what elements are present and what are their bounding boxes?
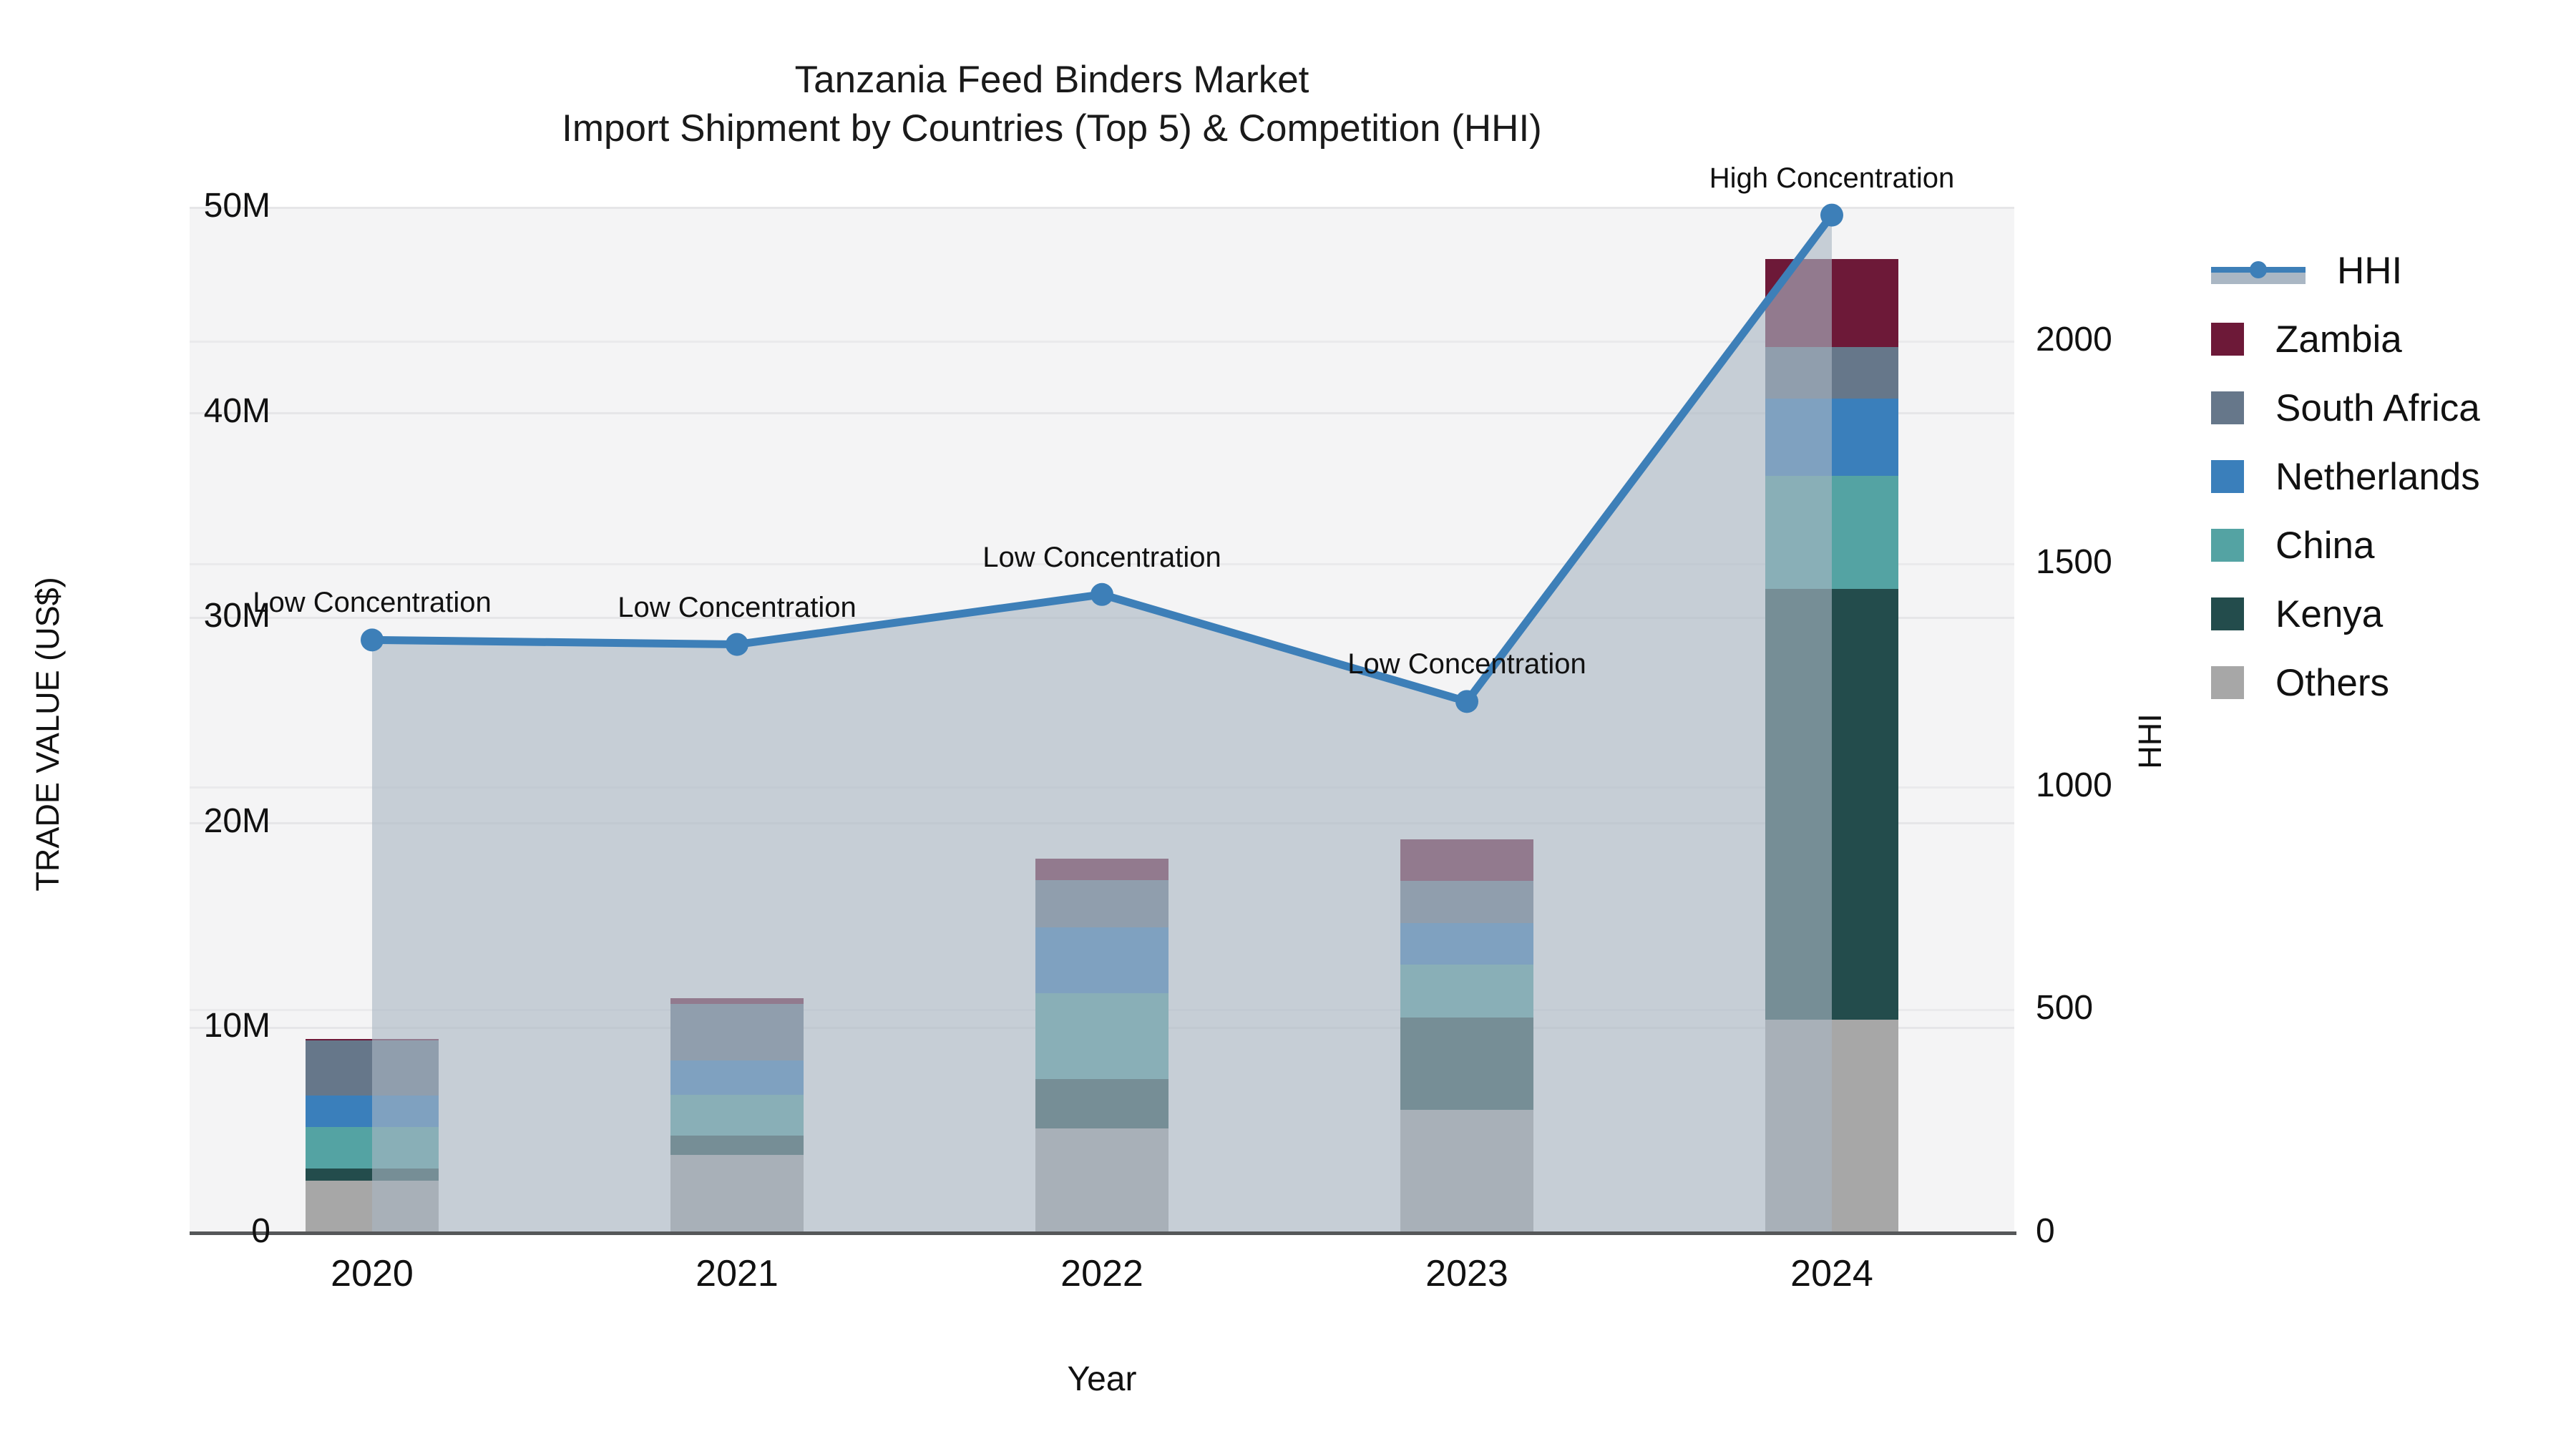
hhi-data-point[interactable] — [1820, 204, 1843, 227]
legend-item-label: China — [2275, 527, 2374, 565]
chart-title-line-1: Tanzania Feed Binders Market — [795, 59, 1309, 101]
hhi-data-point[interactable] — [1091, 583, 1113, 606]
legend-swatch-icon — [2211, 323, 2244, 356]
chart-title-line-2: Import Shipment by Countries (Top 5) & C… — [0, 104, 2104, 153]
legend-item-label: Zambia — [2275, 321, 2402, 358]
concentration-annotation: Low Concentration — [1347, 648, 1586, 680]
hhi-data-point[interactable] — [726, 633, 748, 656]
concentration-annotation: High Concentration — [1709, 162, 1954, 195]
legend-swatch-icon — [2211, 391, 2244, 424]
y-axis-right-tick-label: 500 — [2036, 988, 2322, 1028]
x-axis-tick-label-2022: 2022 — [959, 1252, 1245, 1295]
hhi-data-point[interactable] — [361, 628, 384, 651]
x-axis-tick-label-2021: 2021 — [594, 1252, 880, 1295]
legend-item-hhi[interactable]: HHI — [2211, 236, 2569, 305]
y-axis-left-tick-label: 50M — [0, 186, 270, 225]
hhi-data-point[interactable] — [1455, 690, 1478, 713]
legend-item-china[interactable]: China — [2211, 511, 2569, 580]
plot-area: Low ConcentrationLow ConcentrationLow Co… — [190, 208, 2014, 1233]
y-axis-left-tick-label: 0 — [0, 1211, 270, 1251]
legend-item-label: HHI — [2337, 252, 2402, 290]
y-axis-right-tick-label: 1000 — [2036, 766, 2322, 805]
legend-item-kenya[interactable]: Kenya — [2211, 580, 2569, 648]
legend-item-south-africa[interactable]: South Africa — [2211, 374, 2569, 442]
x-axis-label: Year — [190, 1360, 2014, 1399]
legend-item-zambia[interactable]: Zambia — [2211, 305, 2569, 374]
legend-item-label: Kenya — [2275, 595, 2383, 633]
legend-swatch-icon — [2211, 666, 2244, 699]
legend-item-label: Others — [2275, 664, 2389, 702]
y-axis-right-tick-label: 0 — [2036, 1211, 2322, 1251]
hhi-area-fill — [372, 215, 1832, 1233]
legend-item-others[interactable]: Others — [2211, 648, 2569, 717]
y-axis-left-tick-label: 40M — [0, 391, 270, 431]
chart-title: Tanzania Feed Binders Market Import Ship… — [0, 56, 2104, 153]
legend-item-netherlands[interactable]: Netherlands — [2211, 442, 2569, 511]
legend-swatch-icon — [2211, 529, 2244, 562]
legend-line-marker-icon — [2211, 254, 2306, 287]
x-axis-tick-label-2020: 2020 — [229, 1252, 515, 1295]
legend-swatch-icon — [2211, 597, 2244, 630]
concentration-annotation: Low Concentration — [982, 542, 1221, 574]
chart-figure: Tanzania Feed Binders Market Import Ship… — [0, 0, 2576, 1449]
y-axis-left-tick-label: 10M — [0, 1006, 270, 1045]
x-axis-tick-label-2024: 2024 — [1689, 1252, 1975, 1295]
legend-item-label: Netherlands — [2275, 458, 2480, 496]
y-axis-left-label: TRADE VALUE (US$) — [29, 484, 67, 985]
x-axis-line — [190, 1231, 2016, 1235]
y-axis-right-label: HHI — [2132, 491, 2169, 992]
legend-item-label: South Africa — [2275, 389, 2480, 427]
hhi-series — [190, 208, 2014, 1233]
x-axis-tick-label-2023: 2023 — [1324, 1252, 1610, 1295]
legend: HHIZambiaSouth AfricaNetherlandsChinaKen… — [2211, 236, 2569, 717]
concentration-annotation: Low Concentration — [618, 592, 857, 624]
legend-swatch-icon — [2211, 460, 2244, 493]
concentration-annotation: Low Concentration — [253, 587, 492, 619]
